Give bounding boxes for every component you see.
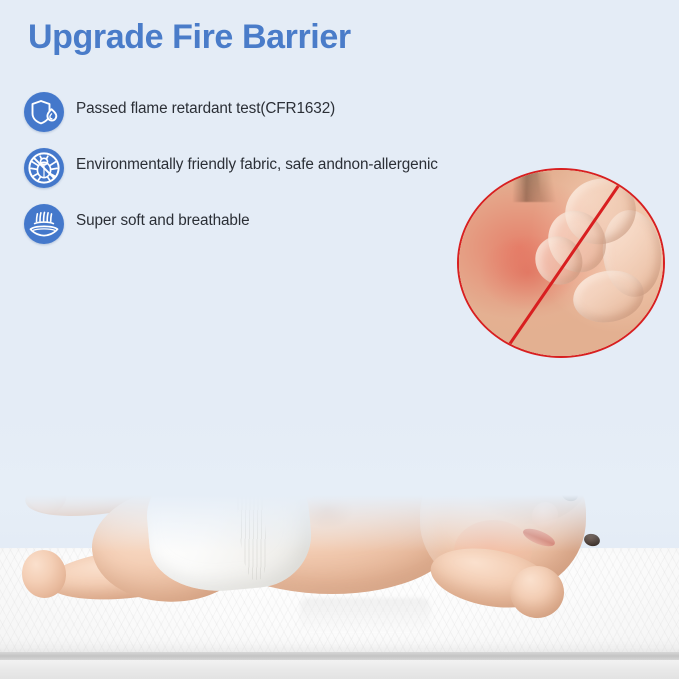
no-itching-prohibition-photo xyxy=(457,168,665,358)
baby-eye-right xyxy=(583,532,601,548)
list-item-label: Passed flame retardant test(CFR1632) xyxy=(76,100,335,118)
list-item-label: Super soft and breathable xyxy=(76,212,250,230)
list-item: Passed flame retardant test(CFR1632) xyxy=(24,92,654,148)
prohibition-slash-icon xyxy=(459,170,665,358)
baby-figure xyxy=(0,402,679,679)
feature-panel: Upgrade Fire Barrier Passed flame retard… xyxy=(0,0,679,420)
list-item-label: Environmentally friendly fabric, safe an… xyxy=(76,156,438,174)
shield-flame-icon xyxy=(24,92,64,132)
baby-on-mattress-photo xyxy=(0,402,679,679)
page-title: Upgrade Fire Barrier xyxy=(28,18,351,57)
product-infographic: Upgrade Fire Barrier Passed flame retard… xyxy=(0,0,679,679)
no-dust-mite-icon xyxy=(24,148,64,188)
mattress-side-panel xyxy=(0,660,679,679)
breathable-fabric-icon xyxy=(24,204,64,244)
